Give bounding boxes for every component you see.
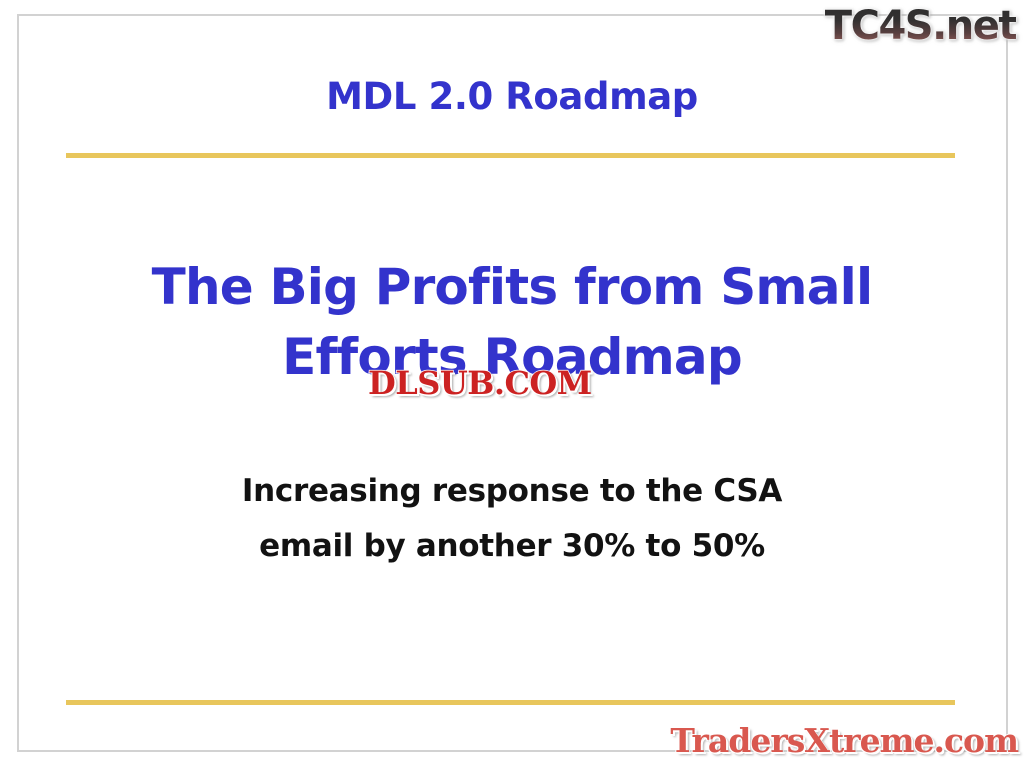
- body-text-line-2: email by another 30% to 50%: [112, 519, 912, 574]
- divider-bottom: [66, 700, 955, 705]
- watermark-tc4s-logo: TC4S.net: [825, 3, 1016, 49]
- body-text-line-1: Increasing response to the CSA: [112, 464, 912, 519]
- divider-top: [66, 153, 955, 158]
- slide-canvas: MDL 2.0 Roadmap The Big Profits from Sma…: [0, 0, 1024, 768]
- watermark-dlsub-logo: DLSUB.COM: [368, 364, 592, 402]
- page-title: MDL 2.0 Roadmap: [0, 75, 1024, 118]
- watermark-tradersxtreme-logo: TradersXtreme.com: [670, 721, 1018, 760]
- body-text: Increasing response to the CSA email by …: [112, 464, 912, 574]
- main-heading-line-1: The Big Profits from Small: [112, 252, 912, 322]
